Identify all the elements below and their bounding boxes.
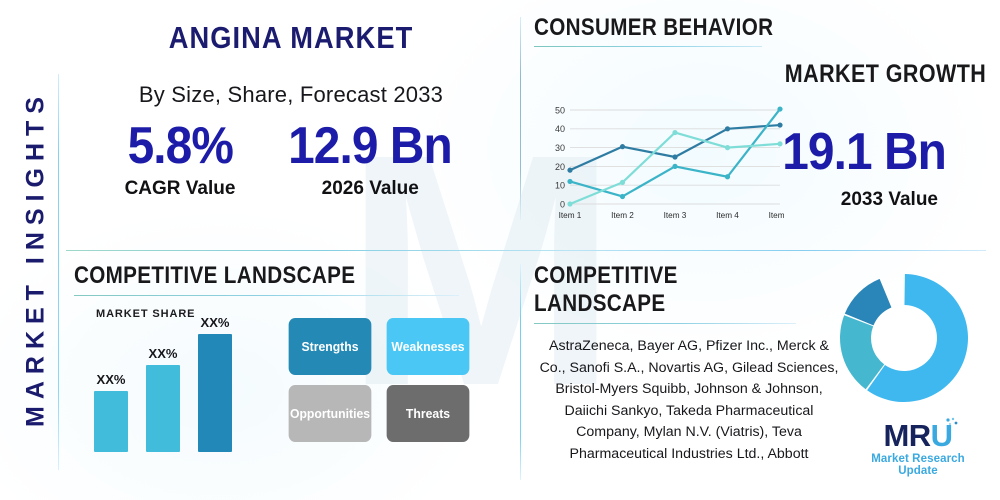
bar-value-label: XX% [146, 346, 180, 361]
stat-2026-label: 2026 Value [281, 178, 459, 200]
bl-body: MARKET SHARE XX%XX%XX% StrengthsWeakness… [74, 308, 514, 452]
logo-mark-dark: MR [883, 418, 930, 453]
mru-logo: MRU Market Research Update [852, 420, 984, 478]
logo-wordmark: MRU [852, 420, 984, 452]
market-share-chart: MARKET SHARE XX%XX%XX% [74, 308, 280, 452]
y-tick-label: 0 [560, 199, 565, 209]
consumer-behavior-heading: CONSUMER BEHAVIOR [534, 14, 926, 42]
donut-svg [838, 272, 970, 404]
donut-segments [840, 274, 968, 402]
divider-vertical-mid-bottom [520, 264, 521, 480]
series-point [567, 168, 572, 173]
br-heading-underline [534, 323, 796, 324]
panel-angina-market: ANGINA MARKET By Size, Share, Forecast 2… [66, 8, 516, 244]
stat-cagr-value: 5.8% [127, 116, 232, 176]
series-point [567, 201, 572, 206]
series-point [777, 122, 782, 127]
page-title: ANGINA MARKET [93, 20, 489, 56]
x-tick-label: Item 5 [769, 211, 784, 220]
series-point [567, 179, 572, 184]
bar [146, 365, 180, 452]
bar-column: XX% [146, 346, 180, 452]
y-tick-label: 10 [555, 181, 565, 191]
line-chart-y-tick-labels: 01020304050 [555, 105, 565, 209]
bl-heading-wrap: COMPETITIVE LANDSCAPE [74, 262, 514, 296]
consumer-behavior-heading-wrap: CONSUMER BEHAVIOR [534, 14, 990, 47]
swot-cell-threats[interactable]: Threats [387, 385, 470, 442]
stat-cagr-label: CAGR Value [123, 178, 238, 200]
divider-horizontal [66, 250, 986, 251]
swot-cell-strengths[interactable]: Strengths [289, 318, 372, 375]
market-share-donut-chart [838, 272, 970, 404]
bar-value-label: XX% [198, 315, 232, 330]
company-list: AstraZeneca, Bayer AG, Pfizer Inc., Merc… [534, 336, 844, 465]
bar [94, 391, 128, 452]
heading-underline [534, 46, 762, 47]
swot-cell-opportunities[interactable]: Opportunities [289, 385, 372, 442]
x-tick-label: Item 4 [716, 211, 739, 220]
infographic-canvas: M MARKET INSIGHTS ANGINA MARKET By Size,… [0, 0, 1000, 500]
logo-tagline: Market Research Update [852, 453, 984, 477]
series-point [672, 130, 677, 135]
series-point [777, 106, 782, 111]
br-heading-wrap: COMPETITIVE LANDSCAPE [534, 262, 844, 324]
bar [198, 334, 232, 452]
panel-competitive-landscape-right: COMPETITIVE LANDSCAPE AstraZeneca, Bayer… [534, 262, 844, 488]
stat-2026-value: 12.9 Bn [288, 116, 452, 176]
swot-grid: StrengthsWeaknessesOpportunitiesThreats [286, 318, 472, 452]
line-chart-series [567, 106, 782, 206]
bar-column: XX% [198, 315, 232, 452]
market-growth-heading: MARKET GROWTH [785, 60, 986, 89]
market-growth-value: 19.1 Bn [782, 122, 946, 182]
x-tick-label: Item 1 [559, 211, 582, 220]
x-tick-label: Item 3 [664, 211, 687, 220]
competitive-landscape-left-heading: COMPETITIVE LANDSCAPE [74, 262, 452, 290]
bl-heading-underline [74, 295, 459, 296]
bar-value-label: XX% [94, 372, 128, 387]
series-line [570, 109, 780, 196]
stat-2026: 12.9 Bn 2026 Value [281, 116, 459, 200]
market-growth-label: 2033 Value [841, 189, 938, 211]
side-label-market-insights: MARKET INSIGHTS [22, 59, 51, 459]
stat-row: 5.8% CAGR Value 12.9 Bn 2026 Value [66, 116, 516, 200]
series-point [725, 126, 730, 131]
bar-column: XX% [94, 372, 128, 452]
y-tick-label: 20 [555, 162, 565, 172]
panel-consumer-behavior: CONSUMER BEHAVIOR MARKET GROWTH 19.1 Bn … [534, 14, 990, 240]
panel-competitive-landscape-left: COMPETITIVE LANDSCAPE MARKET SHARE XX%XX… [74, 262, 514, 488]
series-point [777, 141, 782, 146]
consumer-behavior-line-chart: 01020304050 Item 1Item 2Item 3Item 4Item… [544, 100, 784, 230]
competitive-landscape-right-heading: COMPETITIVE LANDSCAPE [534, 262, 801, 318]
divider-vertical-left [58, 74, 59, 470]
series-point [672, 154, 677, 159]
line-chart-x-tick-labels: Item 1Item 2Item 3Item 4Item 5 [559, 211, 784, 220]
series-point [620, 144, 625, 149]
market-share-label: MARKET SHARE [96, 308, 280, 320]
stat-cagr: 5.8% CAGR Value [123, 116, 238, 200]
subtitle: By Size, Share, Forecast 2033 [66, 82, 516, 108]
swot-cell-weaknesses[interactable]: Weaknesses [387, 318, 470, 375]
series-point [672, 164, 677, 169]
y-tick-label: 40 [555, 124, 565, 134]
x-tick-label: Item 2 [611, 211, 634, 220]
water-drop-icon [944, 417, 960, 433]
divider-vertical-mid-top [520, 17, 521, 220]
y-tick-label: 30 [555, 143, 565, 153]
series-point [620, 194, 625, 199]
series-point [725, 145, 730, 150]
market-share-bars: XX%XX%XX% [74, 326, 280, 452]
series-point [620, 180, 625, 185]
y-tick-label: 50 [555, 105, 565, 115]
series-point [725, 174, 730, 179]
